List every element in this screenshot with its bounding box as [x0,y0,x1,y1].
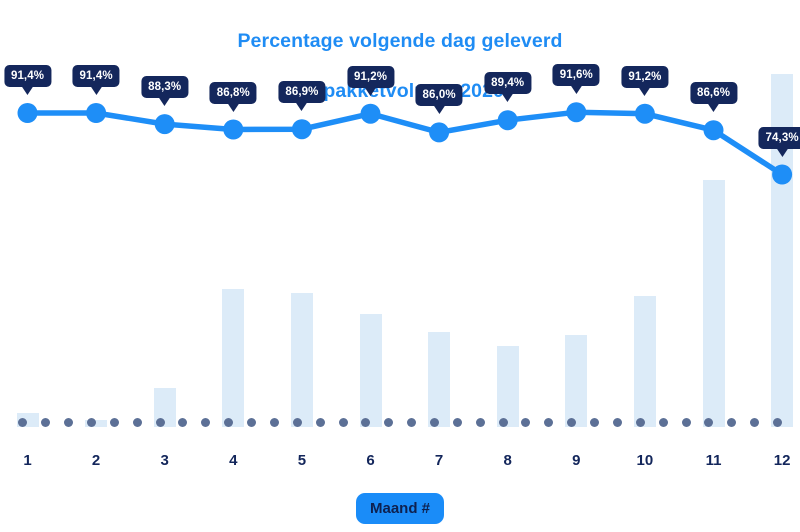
data-label-month-12: 74,3% [759,127,800,149]
data-label-month-1: 91,4% [4,65,51,87]
x-tick-2: 2 [92,452,100,469]
data-label-month-2: 91,4% [73,65,120,87]
x-tick-5: 5 [298,452,306,469]
x-tick-9: 9 [572,452,580,469]
plot-area: 91,4%91,4%88,3%86,8%86,9%91,2%86,0%89,4%… [0,0,800,440]
data-label-callouts: 91,4%91,4%88,3%86,8%86,9%91,2%86,0%89,4%… [0,0,800,440]
chart-container: Percentage volgende dag geleverd vs pakk… [0,0,800,532]
x-axis-title-badge: Maand # [356,493,444,524]
data-label-month-10: 91,2% [621,66,668,88]
x-tick-3: 3 [161,452,169,469]
x-tick-10: 10 [637,452,654,469]
data-label-month-4: 86,8% [210,82,257,104]
data-label-month-3: 88,3% [141,76,188,98]
x-tick-1: 1 [23,452,31,469]
x-tick-7: 7 [435,452,443,469]
data-label-month-6: 91,2% [347,66,394,88]
x-axis-title-wrap: Maand # [0,493,800,524]
data-label-month-7: 86,0% [416,84,463,106]
x-tick-4: 4 [229,452,237,469]
x-tick-6: 6 [366,452,374,469]
x-tick-12: 12 [774,452,791,469]
x-tick-8: 8 [504,452,512,469]
data-label-month-11: 86,6% [690,82,737,104]
x-tick-11: 11 [706,452,722,469]
data-label-month-8: 89,4% [484,72,531,94]
data-label-month-5: 86,9% [278,81,325,103]
data-label-month-9: 91,6% [553,64,600,86]
